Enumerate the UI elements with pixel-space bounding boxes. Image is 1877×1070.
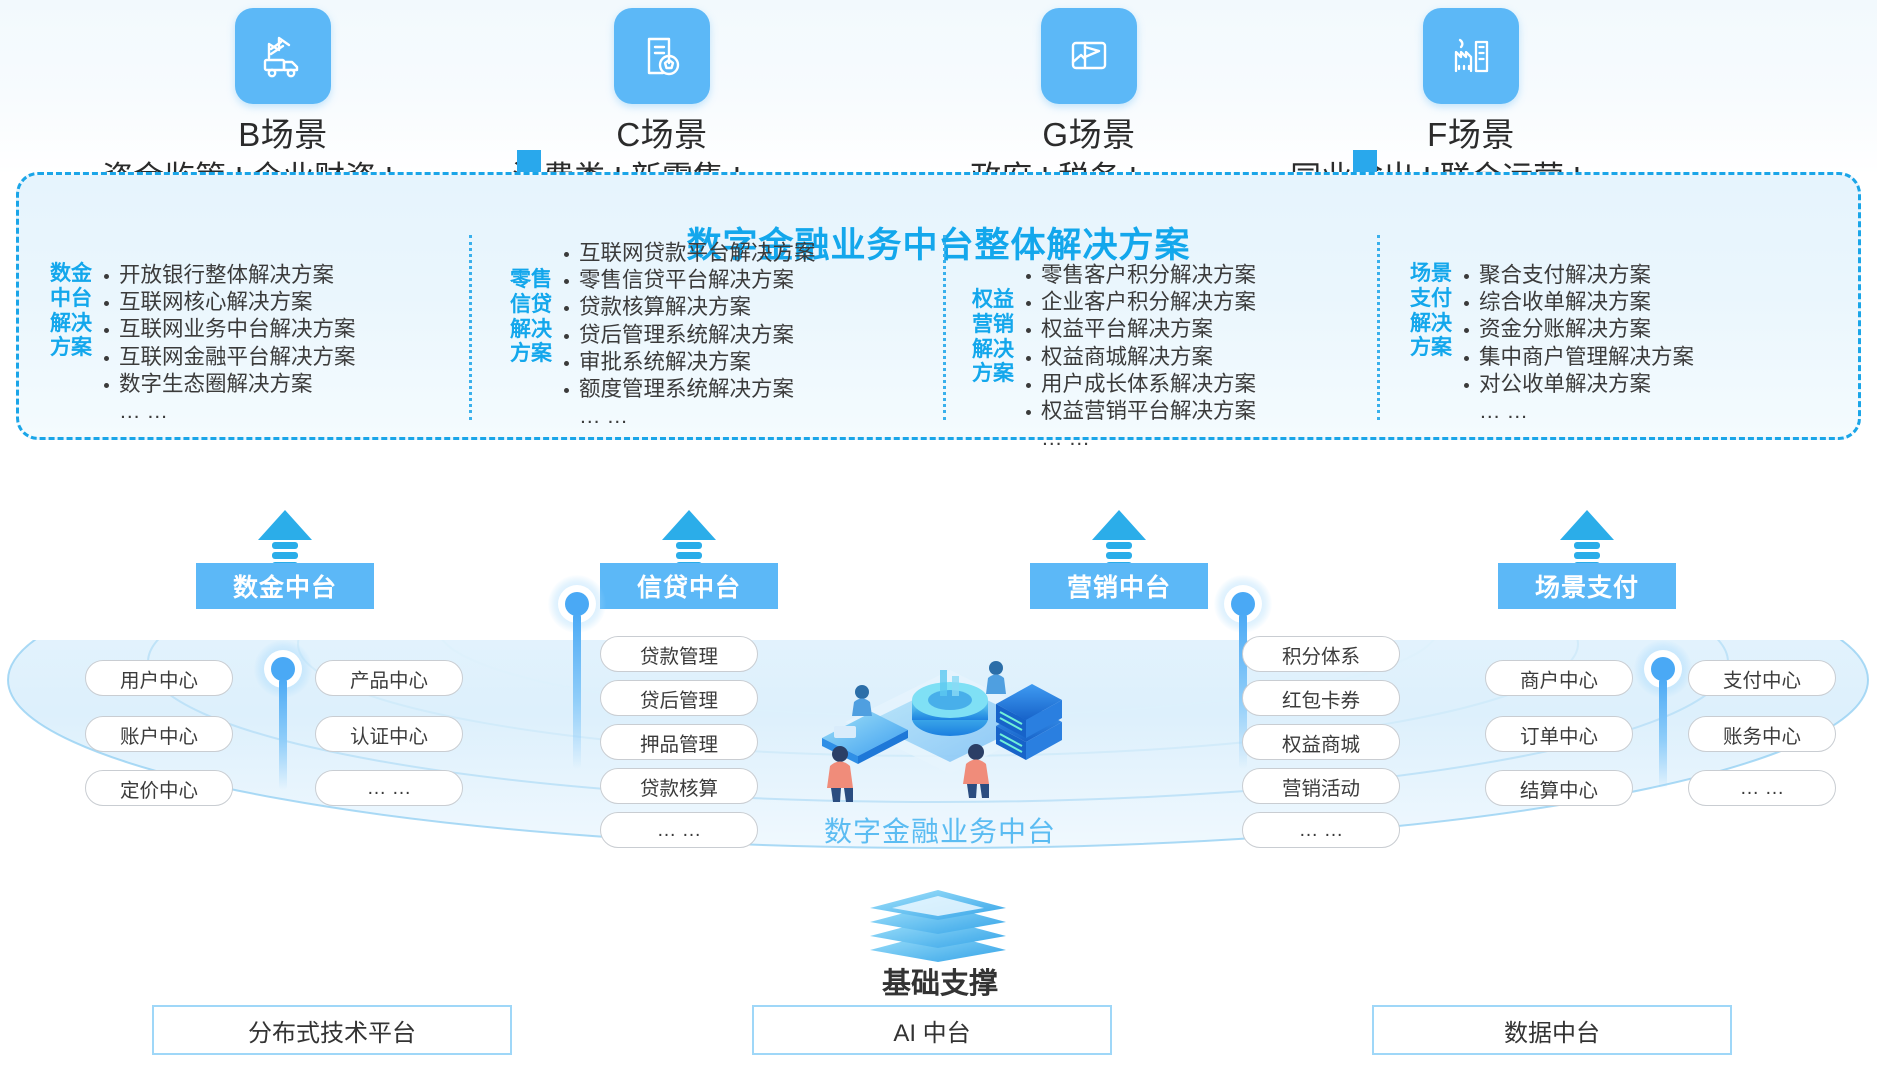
capability-pill[interactable]: 贷后管理 bbox=[600, 680, 758, 716]
capability-pill[interactable]: 用户中心 bbox=[85, 660, 233, 696]
solution-group-changjing-zhifu: 场景 支付 解决 方案 聚合支付解决方案 综合收单解决方案 资金分账解决方案 集… bbox=[1400, 262, 1694, 425]
base-support-label: 基础支撑 bbox=[640, 960, 1240, 1002]
panel-title: 数字金融业务中台整体解决方案 bbox=[19, 217, 1858, 268]
solution-item: 互联网金融平台解决方案 bbox=[102, 344, 356, 371]
base-box-distributed[interactable]: 分布式技术平台 bbox=[152, 1005, 512, 1055]
capability-pill[interactable]: … … bbox=[1242, 812, 1400, 848]
capability-pill[interactable]: 贷款核算 bbox=[600, 768, 758, 804]
solution-item: 互联网业务中台解决方案 bbox=[102, 316, 356, 343]
group-label-line: 支付 bbox=[1400, 287, 1462, 312]
capability-pill[interactable]: 押品管理 bbox=[600, 724, 758, 760]
capability-pill[interactable]: 订单中心 bbox=[1485, 716, 1633, 752]
group-label-line: 方案 bbox=[500, 342, 562, 367]
capability-pill[interactable]: 支付中心 bbox=[1688, 660, 1836, 696]
scene-column-b: B场景 资金监管 I 企业财资 I …… bbox=[73, 8, 493, 196]
scene-name: F场景 bbox=[1261, 116, 1681, 154]
map-flag-icon bbox=[1041, 8, 1137, 104]
group-label: 零售 信贷 解决 方案 bbox=[500, 268, 562, 367]
solution-item: 贷款核算解决方案 bbox=[562, 294, 816, 321]
solution-item: 额度管理系统解决方案 bbox=[562, 376, 816, 403]
solution-item: 权益商城解决方案 bbox=[1024, 344, 1256, 371]
layers-stack-icon bbox=[858, 888, 1018, 964]
factory-icon bbox=[1423, 8, 1519, 104]
group-items: 零售客户积分解决方案 企业客户积分解决方案 权益平台解决方案 权益商城解决方案 … bbox=[1024, 262, 1256, 452]
group-label-line: 营销 bbox=[962, 313, 1024, 338]
capability-pill[interactable]: 权益商城 bbox=[1242, 724, 1400, 760]
diagram-canvas: B场景 资金监管 I 企业财资 I …… C场景 政府 I 税务 I …… 消费… bbox=[0, 0, 1877, 1070]
solution-item: 贷后管理系统解决方案 bbox=[562, 322, 816, 349]
group-label: 权益 营销 解决 方案 bbox=[962, 288, 1024, 387]
solution-item: 零售客户积分解决方案 bbox=[1024, 262, 1256, 289]
base-box-data[interactable]: 数据中台 bbox=[1372, 1005, 1732, 1055]
scene-column-f: F场景 同业输出 I 联合运营 I …… bbox=[1261, 8, 1681, 196]
capability-pill[interactable]: 商户中心 bbox=[1485, 660, 1633, 696]
scene-name: G场景 bbox=[879, 116, 1299, 154]
column-divider bbox=[1377, 235, 1380, 420]
solution-item-ellipsis: … … bbox=[1024, 425, 1256, 452]
capability-pill[interactable]: 积分体系 bbox=[1242, 636, 1400, 672]
solution-group-shujin: 数金 中台 解决 方案 开放银行整体解决方案 互联网核心解决方案 互联网业务中台… bbox=[40, 262, 356, 425]
capability-pill[interactable]: … … bbox=[600, 812, 758, 848]
group-items: 互联网贷款平台解决方案 零售信贷平台解决方案 贷款核算解决方案 贷后管理系统解决… bbox=[562, 240, 816, 430]
solution-group-lingshou-xindai: 零售 信贷 解决 方案 互联网贷款平台解决方案 零售信贷平台解决方案 贷款核算解… bbox=[500, 240, 816, 430]
solution-item: 综合收单解决方案 bbox=[1462, 289, 1694, 316]
column-divider bbox=[469, 235, 472, 420]
base-box-ai[interactable]: AI 中台 bbox=[752, 1005, 1112, 1055]
group-items: 聚合支付解决方案 综合收单解决方案 资金分账解决方案 集中商户管理解决方案 对公… bbox=[1462, 262, 1694, 425]
group-label-line: 解决 bbox=[1400, 312, 1462, 337]
capability-pill[interactable]: 认证中心 bbox=[315, 716, 463, 752]
solution-item: 互联网核心解决方案 bbox=[102, 289, 356, 316]
solution-item: 集中商户管理解决方案 bbox=[1462, 344, 1694, 371]
solution-item: 权益平台解决方案 bbox=[1024, 316, 1256, 343]
capability-pill[interactable]: … … bbox=[1688, 770, 1836, 806]
solution-item-ellipsis: … … bbox=[562, 403, 816, 430]
solution-item: 资金分账解决方案 bbox=[1462, 316, 1694, 343]
group-label-line: 零售 bbox=[500, 268, 562, 293]
solution-item: 权益营销平台解决方案 bbox=[1024, 398, 1256, 425]
datacenter-illustration bbox=[800, 630, 1100, 810]
group-label: 场景 支付 解决 方案 bbox=[1400, 262, 1462, 361]
scene-column-g: G场景 政府 I 税务 I …… bbox=[879, 8, 1299, 196]
capability-pill[interactable]: 账户中心 bbox=[85, 716, 233, 752]
solution-item: 用户成长体系解决方案 bbox=[1024, 371, 1256, 398]
midtag-shujin[interactable]: 数金中台 bbox=[196, 563, 374, 609]
group-label-line: 权益 bbox=[962, 288, 1024, 313]
solution-item: 对公收单解决方案 bbox=[1462, 371, 1694, 398]
capability-pill[interactable]: 红包卡券 bbox=[1242, 680, 1400, 716]
solution-item: 零售信贷平台解决方案 bbox=[562, 267, 816, 294]
solution-item: 聚合支付解决方案 bbox=[1462, 262, 1694, 289]
scene-name: B场景 bbox=[73, 116, 493, 154]
group-label-line: 方案 bbox=[1400, 336, 1462, 361]
group-label-line: 场景 bbox=[1400, 262, 1462, 287]
solution-item: 数字生态圈解决方案 bbox=[102, 371, 356, 398]
midtag-xindai[interactable]: 信贷中台 bbox=[600, 563, 778, 609]
midtag-yingxiao[interactable]: 营销中台 bbox=[1030, 563, 1208, 609]
group-label-line: 解决 bbox=[40, 312, 102, 337]
center-caption: 数字金融业务中台 bbox=[760, 810, 1120, 850]
group-label-line: 解决 bbox=[500, 318, 562, 343]
midtag-zhifu[interactable]: 场景支付 bbox=[1498, 563, 1676, 609]
capability-pill[interactable]: 产品中心 bbox=[315, 660, 463, 696]
group-label-line: 解决 bbox=[962, 338, 1024, 363]
document-scan-icon bbox=[614, 8, 710, 104]
truck-chart-icon bbox=[235, 8, 331, 104]
solution-item: 审批系统解决方案 bbox=[562, 349, 816, 376]
group-label-line: 信贷 bbox=[500, 293, 562, 318]
group-items: 开放银行整体解决方案 互联网核心解决方案 互联网业务中台解决方案 互联网金融平台… bbox=[102, 262, 356, 425]
capability-pill[interactable]: … … bbox=[315, 770, 463, 806]
group-label-line: 方案 bbox=[962, 362, 1024, 387]
solution-group-quanyi-yingxiao: 权益 营销 解决 方案 零售客户积分解决方案 企业客户积分解决方案 权益平台解决… bbox=[962, 262, 1256, 452]
group-label-line: 中台 bbox=[40, 287, 102, 312]
capability-pill[interactable]: 定价中心 bbox=[85, 770, 233, 806]
capability-pill[interactable]: 账务中心 bbox=[1688, 716, 1836, 752]
capability-pill[interactable]: 贷款管理 bbox=[600, 636, 758, 672]
group-label-line: 方案 bbox=[40, 336, 102, 361]
group-label: 数金 中台 解决 方案 bbox=[40, 262, 102, 361]
solution-item: 开放银行整体解决方案 bbox=[102, 262, 356, 289]
capability-pill[interactable]: 结算中心 bbox=[1485, 770, 1633, 806]
column-divider bbox=[943, 235, 946, 420]
scene-name: C场景 bbox=[452, 116, 872, 154]
solution-item: 互联网贷款平台解决方案 bbox=[562, 240, 816, 267]
group-label-line: 数金 bbox=[40, 262, 102, 287]
solution-item: 企业客户积分解决方案 bbox=[1024, 289, 1256, 316]
solution-item-ellipsis: … … bbox=[102, 398, 356, 425]
solution-item-ellipsis: … … bbox=[1462, 398, 1694, 425]
capability-pill[interactable]: 营销活动 bbox=[1242, 768, 1400, 804]
